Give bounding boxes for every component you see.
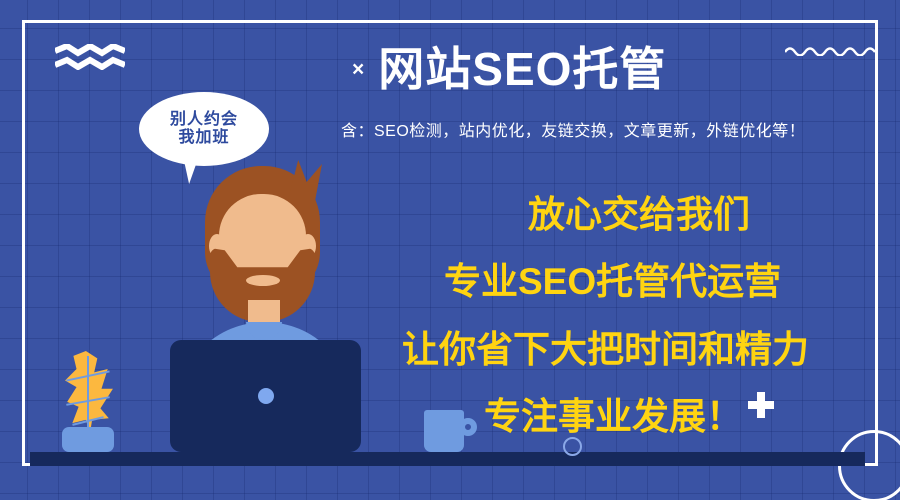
desk-shape — [30, 452, 865, 466]
highlight-line-4: 专注事业发展！ — [484, 398, 743, 435]
speech-bubble: 别人约会 我加班 — [139, 92, 269, 166]
plus-icon — [748, 392, 774, 418]
seo-poster: 别人约会 我加班 × 网站SEO托管 含：SEO检测，站内优化，友链交换，文章更… — [0, 0, 900, 500]
page-title: × 网站SEO托管 — [352, 46, 666, 92]
hair-tuft-shape — [288, 160, 322, 200]
highlight-line-2: 专业SEO托管代运营 — [444, 263, 781, 300]
laptop-logo-icon — [258, 388, 274, 404]
highlight-line-1: 放心交给我们 — [528, 196, 750, 233]
person-illustration — [150, 160, 400, 370]
circle-outline-icon — [563, 437, 582, 456]
mouth-shape — [246, 275, 280, 286]
highlight-line-3: 让你省下大把时间和精力 — [402, 331, 809, 368]
speech-bubble-line-1: 别人约会 — [170, 111, 238, 129]
mug-body-shape — [424, 410, 464, 452]
subtitle-text: 含：SEO检测，站内优化，友链交换，文章更新，外链优化等！ — [341, 117, 881, 141]
title-text: 网站SEO托管 — [378, 46, 666, 92]
title-mark-icon: × — [352, 59, 364, 80]
wave-line-icon — [785, 44, 877, 56]
speech-bubble-line-2: 我加班 — [178, 129, 229, 147]
wave-lines-icon — [55, 44, 125, 70]
plant-pot-shape — [62, 427, 114, 452]
